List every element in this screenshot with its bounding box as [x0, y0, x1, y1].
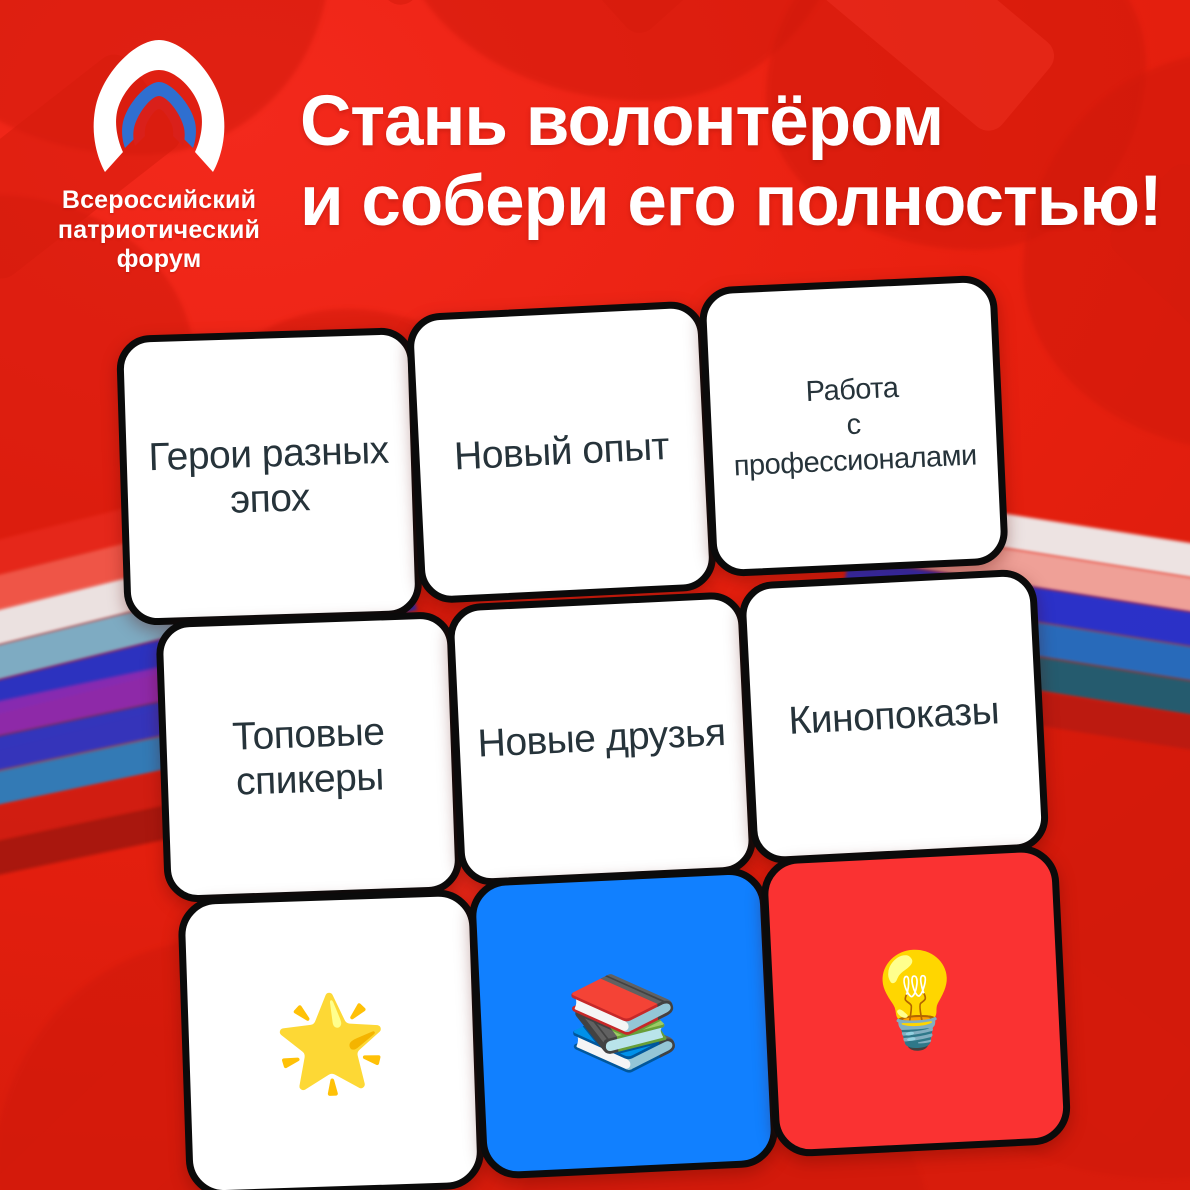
glowing-star-icon: 🌟 — [272, 996, 390, 1092]
headline-line-1: Стань волонтёром — [300, 82, 943, 161]
card-film-screenings[interactable]: Кинопоказы — [738, 568, 1050, 865]
headline-line-2: и собери его полностью! — [300, 162, 1180, 242]
card-new-friends[interactable]: Новые друзья — [446, 591, 757, 887]
card-professionals[interactable]: Работа с профессионалами — [698, 274, 1009, 577]
card-top-speakers-label: Топовые спикеры — [184, 708, 435, 807]
logo-line-3: форум — [44, 245, 274, 275]
headline: Стань волонтёром и собери его полностью! — [300, 82, 1180, 241]
card-new-experience-label: Новый опыт — [453, 424, 670, 480]
card-books[interactable]: 📚 — [468, 866, 780, 1180]
card-heroes-label: Герои разных эпох — [144, 427, 395, 525]
logo-line-1: Всероссийский — [44, 186, 274, 216]
poster-canvas: Всероссийский патриотический форум Стань… — [0, 0, 1190, 1190]
card-new-experience[interactable]: Новый опыт — [406, 300, 718, 604]
card-heroes[interactable]: Герои разных эпох — [116, 327, 423, 626]
card-star[interactable]: 🌟 — [177, 889, 485, 1190]
card-new-friends-label: Новые друзья — [477, 710, 727, 767]
card-professionals-label: Работа с профессионалами — [727, 367, 980, 484]
card-top-speakers[interactable]: Топовые спикеры — [155, 611, 463, 903]
forum-logo: Всероссийский патриотический форум — [44, 36, 274, 275]
forum-logo-text: Всероссийский патриотический форум — [44, 186, 274, 275]
card-row-3: 🌟 📚 💡 — [176, 862, 1080, 1190]
chevron-logo-icon — [75, 36, 243, 176]
light-bulb-icon: 💡 — [856, 952, 975, 1049]
logo-line-2: патриотический — [44, 216, 274, 246]
books-icon: 📚 — [564, 974, 683, 1071]
card-film-screenings-label: Кинопоказы — [787, 689, 1000, 745]
benefits-card-grid: Герои разных эпох Новый опыт Работа с пр… — [114, 299, 1079, 1190]
card-lightbulb[interactable]: 💡 — [760, 844, 1072, 1158]
